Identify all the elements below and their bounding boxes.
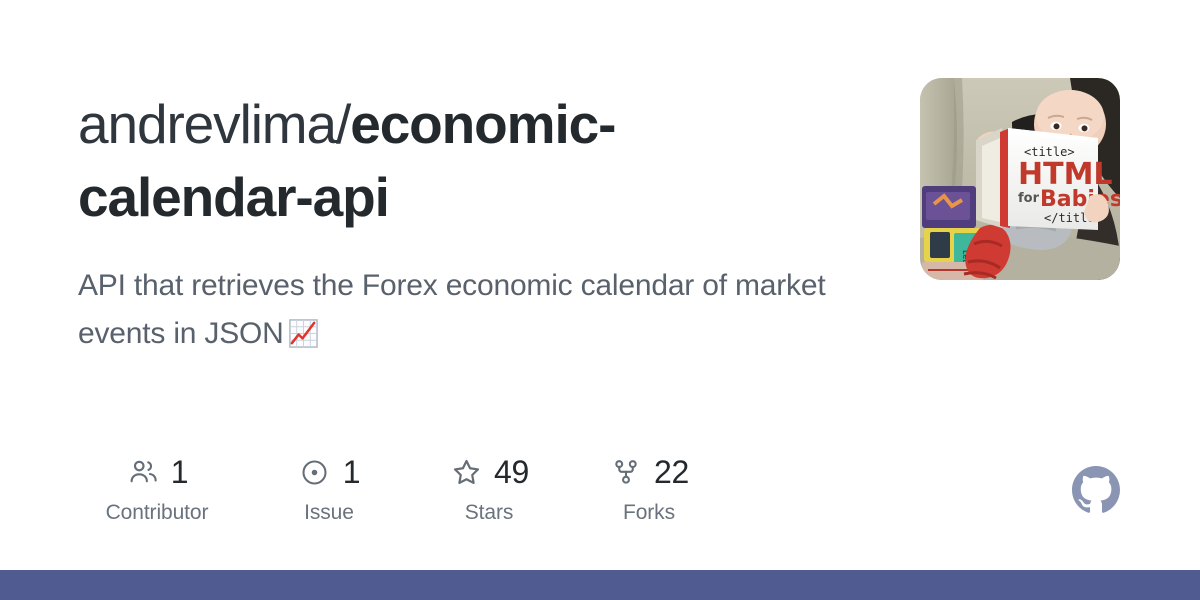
issue-opened-icon xyxy=(298,455,332,489)
svg-text:for: for xyxy=(1018,191,1040,206)
star-icon xyxy=(449,455,483,489)
stat-issues-top: 1 xyxy=(298,452,361,492)
repository-description-text: API that retrieves the Forex economic ca… xyxy=(78,269,825,350)
stat-stars-label: Stars xyxy=(465,501,514,525)
people-icon xyxy=(126,455,160,489)
stat-forks: 22 Forks xyxy=(584,452,714,525)
avatar-photo-baby-reading-html-for-babies: Lett xyxy=(920,78,1120,280)
repository-title: andrevlima/economic-calendar-api xyxy=(78,88,778,234)
stat-contributors-value: 1 xyxy=(171,455,189,489)
stat-issues-label: Issue xyxy=(304,501,354,525)
repository-avatar: Lett xyxy=(920,78,1120,280)
stat-issues: 1 Issue xyxy=(264,452,394,525)
github-mark-icon xyxy=(1072,466,1120,514)
stat-issues-value: 1 xyxy=(343,455,361,489)
stat-forks-label: Forks xyxy=(623,501,675,525)
stat-stars-value: 49 xyxy=(494,455,529,489)
stat-forks-top: 22 xyxy=(609,452,689,492)
stat-stars: 49 Stars xyxy=(424,452,554,525)
stat-contributors-top: 1 xyxy=(126,452,189,492)
repository-description: API that retrieves the Forex economic ca… xyxy=(78,262,868,364)
repository-stats: 1 Contributor 1 Issue xyxy=(78,452,714,525)
repository-owner: andrevlima/ xyxy=(78,93,350,155)
bottom-accent-bar xyxy=(0,570,1200,600)
stat-contributors-label: Contributor xyxy=(106,501,209,525)
repo-forked-icon xyxy=(609,455,643,489)
stat-stars-top: 49 xyxy=(449,452,529,492)
stat-forks-value: 22 xyxy=(654,455,689,489)
stat-contributors: 1 Contributor xyxy=(78,452,236,525)
chart-increasing-emoji xyxy=(288,316,319,364)
github-social-preview-card: Lett xyxy=(0,0,1200,600)
